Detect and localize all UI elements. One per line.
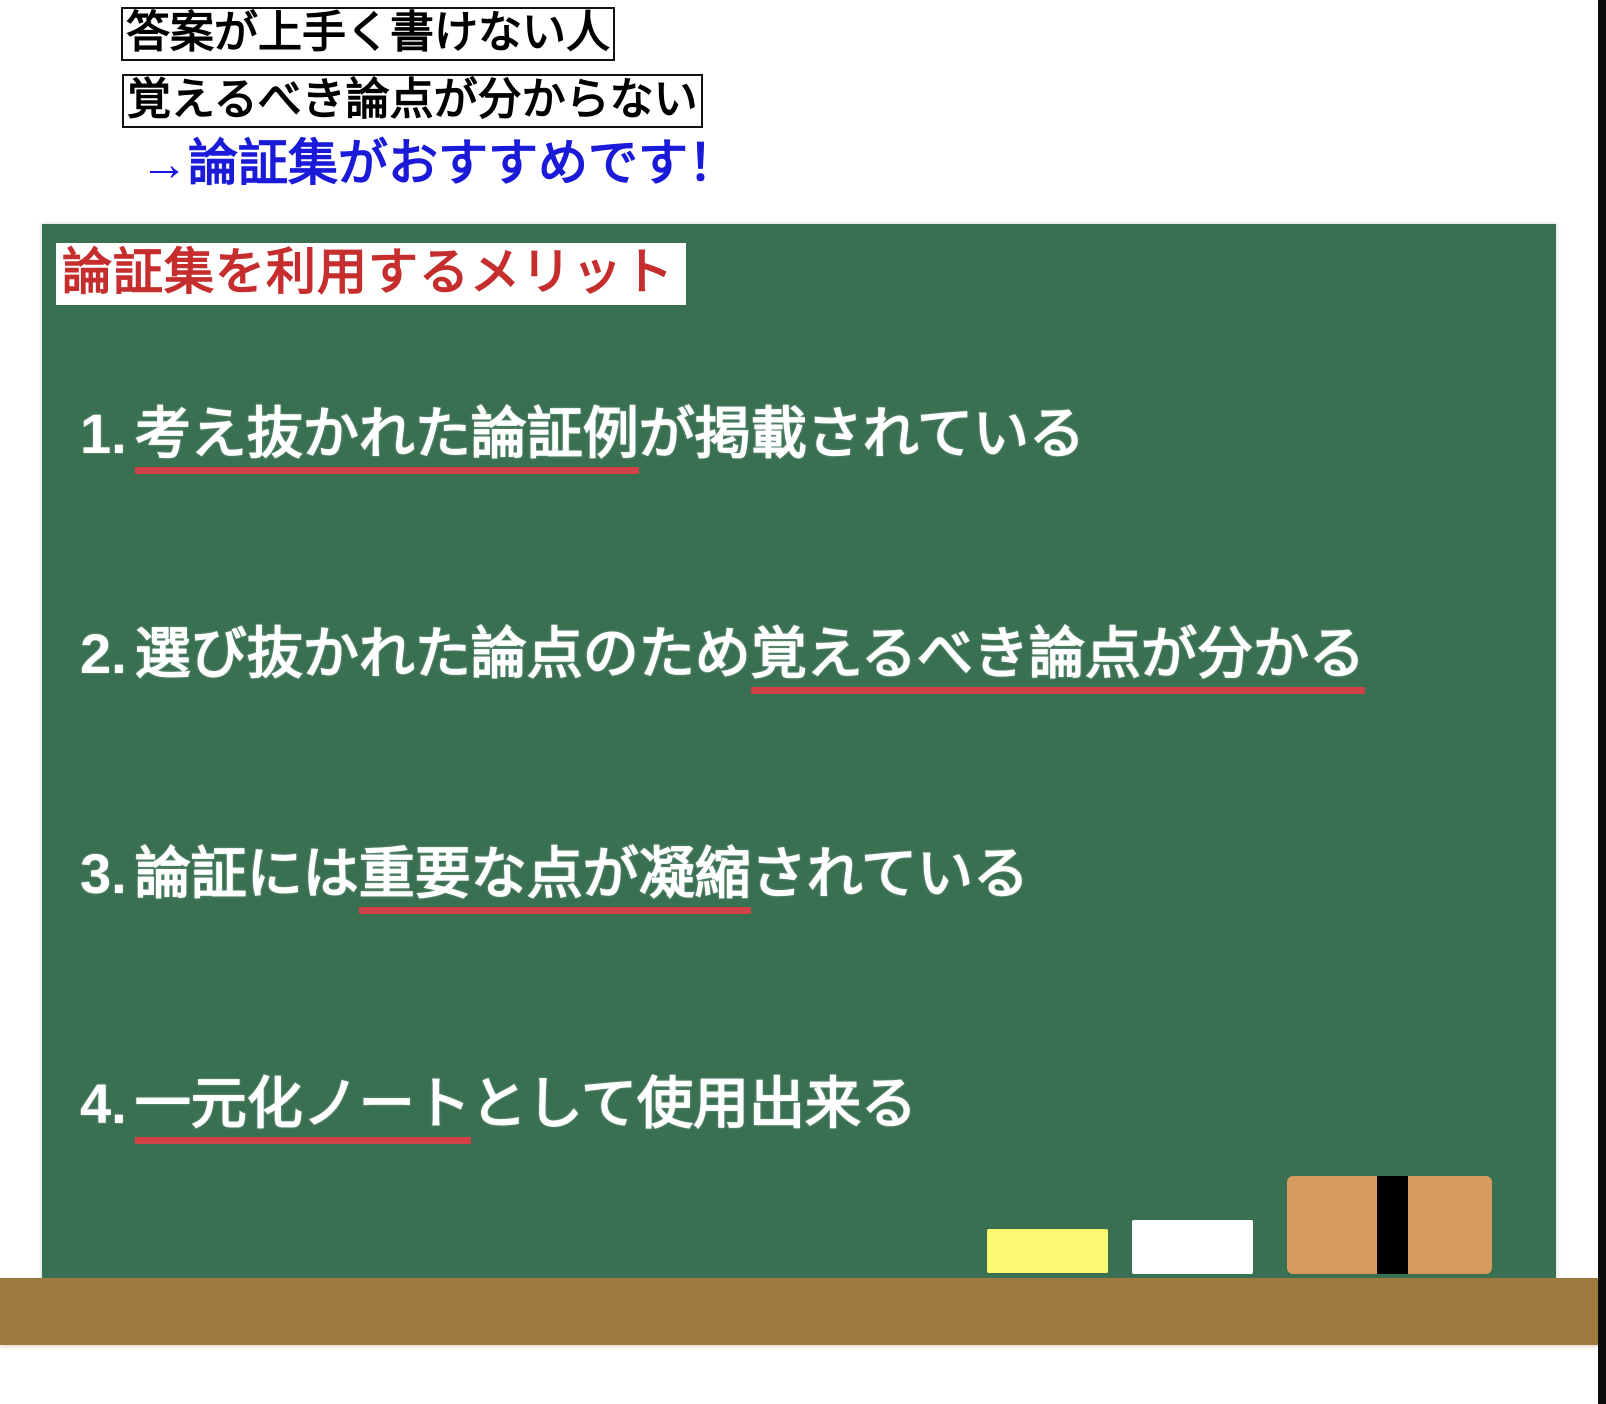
chalk-white-icon — [1132, 1220, 1253, 1274]
recommendation-text: 論証集がおすすめです！ — [188, 135, 738, 191]
merit-segment-2-1: 選び抜かれた論点のため — [135, 622, 751, 685]
blackboard: 論証集を利用するメリット 1.考え抜かれた論証例が掲載されている 2.選び抜かれ… — [42, 224, 1556, 1278]
recommendation-line: →論証集がおすすめです！ — [140, 136, 738, 192]
eraser-stripe — [1377, 1176, 1408, 1274]
arrow-icon: → — [140, 138, 188, 191]
merit-segment-4-1: 一元化ノート — [135, 1072, 471, 1144]
merit-item-4: 4.一元化ノートとして使用出来る — [80, 1072, 917, 1136]
merit-segment-3-3: されている — [751, 842, 1029, 905]
merit-segment-3-1: 論証には — [135, 842, 359, 905]
problem-box-2: 覚えるべき論点が分からない — [122, 74, 703, 128]
merit-number-2: 2. — [80, 622, 127, 686]
problem-box-1: 答案が上手く書けない人 — [121, 7, 615, 61]
intro-block: 答案が上手く書けない人 覚えるべき論点が分からない →論証集がおすすめです！ — [0, 0, 1606, 215]
merit-segment-3-2: 重要な点が凝縮 — [359, 842, 751, 914]
merit-number-3: 3. — [80, 842, 127, 906]
chalk-tray — [0, 1278, 1598, 1345]
chalk-yellow-icon — [987, 1229, 1108, 1273]
merit-number-1: 1. — [80, 402, 127, 466]
blackboard-eraser-icon — [1287, 1176, 1492, 1274]
merit-item-3: 3.論証には重要な点が凝縮されている — [80, 842, 1029, 906]
merit-segment-1-1: 考え抜かれた論証例 — [135, 402, 639, 474]
merit-number-4: 4. — [80, 1072, 127, 1136]
right-edge-strip — [1598, 0, 1606, 1404]
merit-segment-1-2: が掲載されている — [639, 402, 1085, 465]
merit-segment-2-2: 覚えるべき論点が分かる — [751, 622, 1365, 694]
board-title: 論証集を利用するメリット — [62, 244, 674, 300]
merit-item-1: 1.考え抜かれた論証例が掲載されている — [80, 402, 1085, 466]
merit-segment-4-2: として使用出来る — [471, 1072, 917, 1135]
board-title-band: 論証集を利用するメリット — [56, 243, 686, 305]
merit-item-2: 2.選び抜かれた論点のため覚えるべき論点が分かる — [80, 622, 1365, 686]
